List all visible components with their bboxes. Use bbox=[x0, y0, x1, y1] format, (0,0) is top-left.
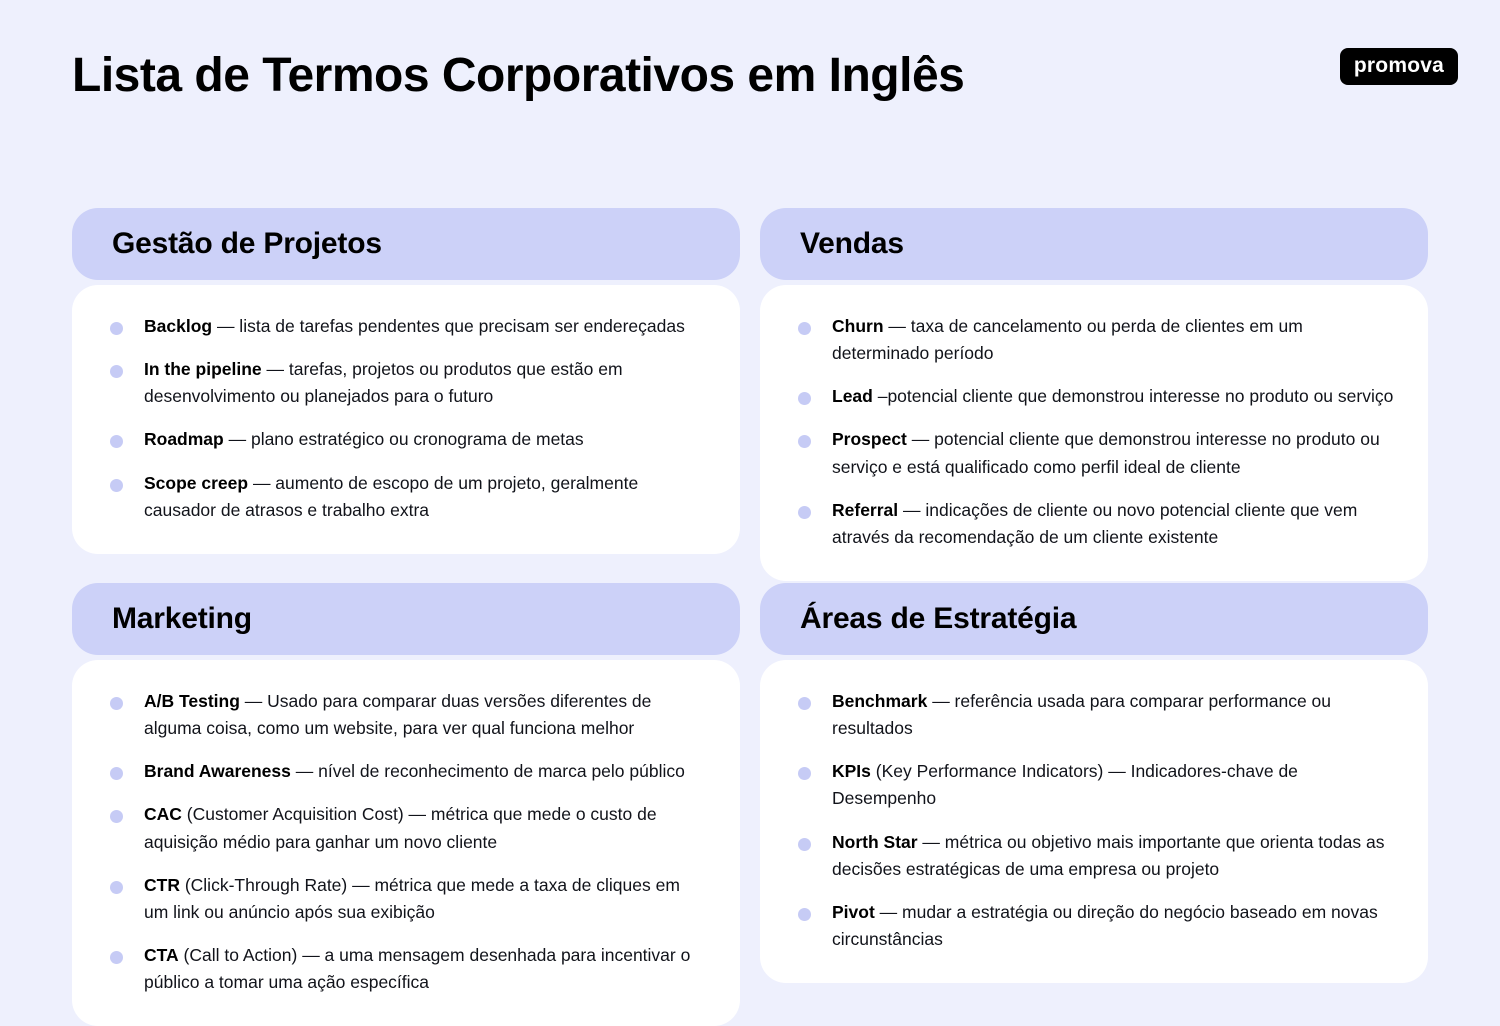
list-item: In the pipeline — tarefas, projetos ou p… bbox=[106, 356, 706, 410]
list-item: Churn — taxa de cancelamento ou perda de… bbox=[794, 313, 1394, 367]
term-list: A/B Testing — Usado para comparar duas v… bbox=[106, 688, 706, 996]
term-list: Benchmark — referência usada para compar… bbox=[794, 688, 1394, 953]
term-cards-board: Gestão de Projetos Backlog — lista de ta… bbox=[0, 0, 1500, 1000]
term-name: Lead bbox=[832, 386, 873, 406]
list-item: Prospect — potencial cliente que demonst… bbox=[794, 426, 1394, 480]
list-item: North Star — métrica ou objetivo mais im… bbox=[794, 829, 1394, 883]
term-list: Churn — taxa de cancelamento ou perda de… bbox=[794, 313, 1394, 551]
bullet-icon bbox=[110, 951, 123, 964]
card-body-gestao-de-projetos: Backlog — lista de tarefas pendentes que… bbox=[72, 285, 740, 554]
card-title: Áreas de Estratégia bbox=[800, 604, 1076, 634]
bullet-icon bbox=[110, 435, 123, 448]
term-definition: (Key Performance Indicators) — Indicador… bbox=[832, 761, 1298, 808]
term-name: Scope creep bbox=[144, 473, 248, 493]
list-item: Brand Awareness — nível de reconheciment… bbox=[106, 758, 706, 785]
list-item: CTR (Click-Through Rate) — métrica que m… bbox=[106, 872, 706, 926]
term-definition: — plano estratégico ou cronograma de met… bbox=[224, 429, 584, 449]
list-item: Lead –potencial cliente que demonstrou i… bbox=[794, 383, 1394, 410]
term-name: In the pipeline bbox=[144, 359, 262, 379]
term-name: Prospect bbox=[832, 429, 907, 449]
bullet-icon bbox=[798, 697, 811, 710]
list-item: Roadmap — plano estratégico ou cronogram… bbox=[106, 426, 706, 453]
list-item: Benchmark — referência usada para compar… bbox=[794, 688, 1394, 742]
term-name: KPIs bbox=[832, 761, 871, 781]
list-item: Referral — indicações de cliente ou novo… bbox=[794, 497, 1394, 551]
term-definition: (Click-Through Rate) — métrica que mede … bbox=[144, 875, 680, 922]
term-list: Backlog — lista de tarefas pendentes que… bbox=[106, 313, 706, 524]
list-item: KPIs (Key Performance Indicators) — Indi… bbox=[794, 758, 1394, 812]
term-name: Roadmap bbox=[144, 429, 224, 449]
term-definition: — nível de reconhecimento de marca pelo … bbox=[291, 761, 685, 781]
bullet-icon bbox=[110, 697, 123, 710]
term-definition: — taxa de cancelamento ou perda de clien… bbox=[832, 316, 1303, 363]
card-header-areas-de-estrategia: Áreas de Estratégia bbox=[760, 583, 1428, 655]
term-name: North Star bbox=[832, 832, 918, 852]
term-definition: — mudar a estratégia ou direção do negóc… bbox=[832, 902, 1378, 949]
bullet-icon bbox=[798, 908, 811, 921]
bullet-icon bbox=[110, 881, 123, 894]
bullet-icon bbox=[798, 392, 811, 405]
term-name: Pivot bbox=[832, 902, 875, 922]
card-gestao-de-projetos: Gestão de Projetos Backlog — lista de ta… bbox=[72, 208, 740, 554]
bullet-icon bbox=[110, 365, 123, 378]
card-header-gestao-de-projetos: Gestão de Projetos bbox=[72, 208, 740, 280]
list-item: Scope creep — aumento de escopo de um pr… bbox=[106, 470, 706, 524]
card-header-marketing: Marketing bbox=[72, 583, 740, 655]
card-body-vendas: Churn — taxa de cancelamento ou perda de… bbox=[760, 285, 1428, 581]
bullet-icon bbox=[110, 322, 123, 335]
term-name: Referral bbox=[832, 500, 898, 520]
card-vendas: Vendas Churn — taxa de cancelamento ou p… bbox=[760, 208, 1428, 581]
bullet-icon bbox=[798, 435, 811, 448]
card-marketing: Marketing A/B Testing — Usado para compa… bbox=[72, 583, 740, 1026]
term-definition: (Customer Acquisition Cost) — métrica qu… bbox=[144, 804, 657, 851]
list-item: A/B Testing — Usado para comparar duas v… bbox=[106, 688, 706, 742]
bullet-icon bbox=[110, 767, 123, 780]
list-item: Backlog — lista de tarefas pendentes que… bbox=[106, 313, 706, 340]
bullet-icon bbox=[110, 479, 123, 492]
term-name: CTA bbox=[144, 945, 179, 965]
term-name: Benchmark bbox=[832, 691, 927, 711]
bullet-icon bbox=[798, 322, 811, 335]
term-definition: — lista de tarefas pendentes que precisa… bbox=[212, 316, 685, 336]
list-item: CTA (Call to Action) — a uma mensagem de… bbox=[106, 942, 706, 996]
bullet-icon bbox=[798, 838, 811, 851]
bullet-icon bbox=[798, 767, 811, 780]
term-name: A/B Testing bbox=[144, 691, 240, 711]
term-definition: — potencial cliente que demonstrou inter… bbox=[832, 429, 1380, 476]
list-item: Pivot — mudar a estratégia ou direção do… bbox=[794, 899, 1394, 953]
term-definition: — indicações de cliente ou novo potencia… bbox=[832, 500, 1357, 547]
term-name: CAC bbox=[144, 804, 182, 824]
card-title: Gestão de Projetos bbox=[112, 229, 382, 259]
card-areas-de-estrategia: Áreas de Estratégia Benchmark — referênc… bbox=[760, 583, 1428, 983]
term-name: Brand Awareness bbox=[144, 761, 291, 781]
card-title: Vendas bbox=[800, 229, 904, 259]
term-name: Churn bbox=[832, 316, 884, 336]
card-body-areas-de-estrategia: Benchmark — referência usada para compar… bbox=[760, 660, 1428, 983]
term-definition: (Call to Action) — a uma mensagem desenh… bbox=[144, 945, 690, 992]
bullet-icon bbox=[798, 506, 811, 519]
term-name: CTR bbox=[144, 875, 180, 895]
term-name: Backlog bbox=[144, 316, 212, 336]
card-header-vendas: Vendas bbox=[760, 208, 1428, 280]
card-body-marketing: A/B Testing — Usado para comparar duas v… bbox=[72, 660, 740, 1026]
term-definition: –potencial cliente que demonstrou intere… bbox=[873, 386, 1393, 406]
card-title: Marketing bbox=[112, 604, 252, 634]
list-item: CAC (Customer Acquisition Cost) — métric… bbox=[106, 801, 706, 855]
bullet-icon bbox=[110, 810, 123, 823]
